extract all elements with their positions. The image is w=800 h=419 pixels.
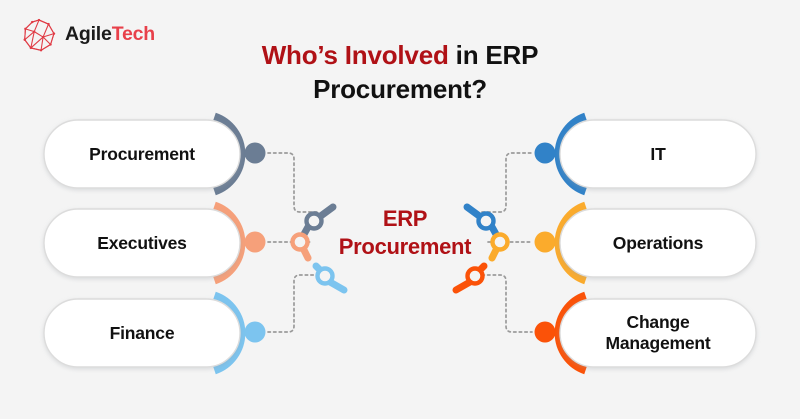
card-node-operations bbox=[535, 232, 556, 253]
card-finance[interactable] bbox=[44, 297, 266, 369]
hub-node-left-mid bbox=[293, 235, 308, 250]
card-pill-change-management[interactable] bbox=[560, 299, 756, 367]
infographic-canvas: AgileTech Who’s Involved in ERP Procurem… bbox=[0, 0, 800, 419]
card-pill-procurement[interactable] bbox=[44, 120, 240, 188]
center-hub-label-line2: Procurement bbox=[330, 233, 480, 261]
hub-node-right-bottom bbox=[468, 269, 483, 284]
hub-node-right-top bbox=[479, 214, 494, 229]
card-change-management[interactable] bbox=[535, 297, 757, 369]
center-hub-label-line1: ERP bbox=[330, 205, 480, 233]
card-node-procurement bbox=[245, 143, 266, 164]
connector-change-management bbox=[482, 275, 532, 332]
card-procurement[interactable] bbox=[44, 118, 266, 190]
card-pill-it[interactable] bbox=[560, 120, 756, 188]
connector-finance bbox=[268, 275, 318, 332]
card-node-executives bbox=[245, 232, 266, 253]
card-pill-finance[interactable] bbox=[44, 299, 240, 367]
card-node-it bbox=[535, 143, 556, 164]
card-pill-executives[interactable] bbox=[44, 209, 240, 277]
card-operations[interactable] bbox=[535, 207, 757, 279]
card-executives[interactable] bbox=[44, 207, 266, 279]
hub-node-right-mid bbox=[493, 235, 508, 250]
hub-seg-left-bot-tail bbox=[330, 282, 344, 290]
hub-seg-right-bot-tail bbox=[456, 282, 470, 290]
card-node-finance bbox=[245, 322, 266, 343]
card-it[interactable] bbox=[535, 118, 757, 190]
center-hub-label: ERP Procurement bbox=[330, 205, 480, 261]
card-node-change-management bbox=[535, 322, 556, 343]
connector-it bbox=[482, 153, 532, 212]
card-pill-operations[interactable] bbox=[560, 209, 756, 277]
hub-node-left-top bbox=[307, 214, 322, 229]
hub-node-left-bottom bbox=[318, 269, 333, 284]
connector-procurement bbox=[268, 153, 318, 212]
